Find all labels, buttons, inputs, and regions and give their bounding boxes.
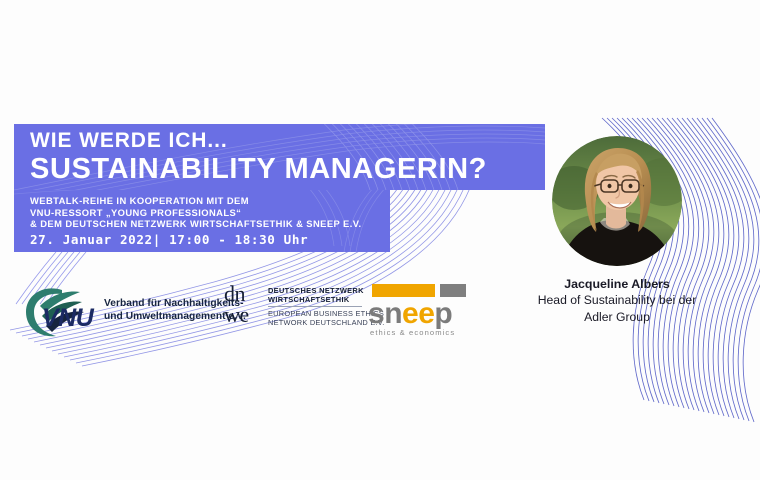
- subtitle-text-group: WEBTALK-REIHE IN KOOPERATION MIT DEM VNU…: [30, 195, 362, 230]
- vnu-logo[interactable]: VNU Verband für Nachhaltigkeits- und Umw…: [18, 280, 218, 342]
- subtitle-line-1: WEBTALK-REIHE IN KOOPERATION MIT DEM: [30, 195, 362, 207]
- subtitle-line-2: VNU-RESSORT „YOUNG PROFESSIONALS“: [30, 207, 362, 219]
- speaker-photo: [552, 136, 682, 266]
- headline-line-1: WIE WERDE ICH...: [30, 129, 487, 153]
- subtitle-line-3: & DEM DEUTSCHEN NETZWERK WIRTSCHAFTSETHI…: [30, 218, 362, 230]
- headline-line-2: SUSTAINABILITY MANAGERIN?: [30, 152, 487, 186]
- dnwe-monogram-line-2: we: [224, 305, 249, 325]
- dnwe-monogram: dn we: [224, 284, 249, 325]
- partner-logos: VNU Verband für Nachhaltigkeits- und Umw…: [0, 272, 470, 352]
- speaker-role-line-2: Adler Group: [497, 309, 737, 326]
- dnwe-title: DEUTSCHES NETZWERK WIRTSCHAFTSETHIK: [268, 286, 364, 304]
- sneep-letters-ee: ee: [402, 297, 434, 330]
- sneep-letter-p: p: [434, 297, 452, 330]
- sneep-letter-n: n: [384, 297, 402, 330]
- dnwe-divider: [268, 306, 362, 307]
- sneep-letter-s: s: [368, 297, 384, 330]
- sneep-wordmark: sneep: [368, 298, 452, 330]
- dnwe-title-line-2: WIRTSCHAFTSETHIK: [268, 295, 350, 304]
- speaker-portrait: [552, 136, 682, 266]
- sneep-logo[interactable]: sneep ethics & economics: [368, 278, 468, 344]
- vnu-acronym: VNU: [42, 304, 93, 333]
- subtitle-date-banner: WEBTALK-REIHE IN KOOPERATION MIT DEM VNU…: [14, 190, 390, 252]
- dnwe-subtitle-line-1: EUROPEAN BUSINESS ETHICS: [268, 309, 384, 318]
- speaker-caption: Jacqueline Albers Head of Sustainability…: [497, 276, 737, 325]
- dnwe-title-line-1: DEUTSCHES NETZWERK: [268, 286, 364, 295]
- sneep-grey-bar: [440, 284, 466, 297]
- headline-text-group: WIE WERDE ICH... SUSTAINABILITY MANAGERI…: [30, 129, 487, 186]
- headline-banner: WIE WERDE ICH... SUSTAINABILITY MANAGERI…: [14, 124, 545, 190]
- dnwe-monogram-line-1: dn: [224, 284, 249, 304]
- speaker-name: Jacqueline Albers: [497, 276, 737, 292]
- sneep-orange-bar: [372, 284, 435, 297]
- speaker-role-line-1: Head of Sustainability bei der: [497, 292, 737, 309]
- event-banner-graphic: WIE WERDE ICH... SUSTAINABILITY MANAGERI…: [0, 0, 760, 480]
- vnu-tagline-line-1: Verband für Nachhaltigkeits-: [104, 298, 244, 309]
- event-date-time: 27. Januar 2022| 17:00 - 18:30 Uhr: [30, 232, 308, 247]
- sneep-tagline: ethics & economics: [370, 328, 455, 337]
- dnwe-logo[interactable]: dn we DEUTSCHES NETZWERK WIRTSCHAFTSETHI…: [224, 284, 364, 336]
- portrait-illustration: [552, 136, 682, 266]
